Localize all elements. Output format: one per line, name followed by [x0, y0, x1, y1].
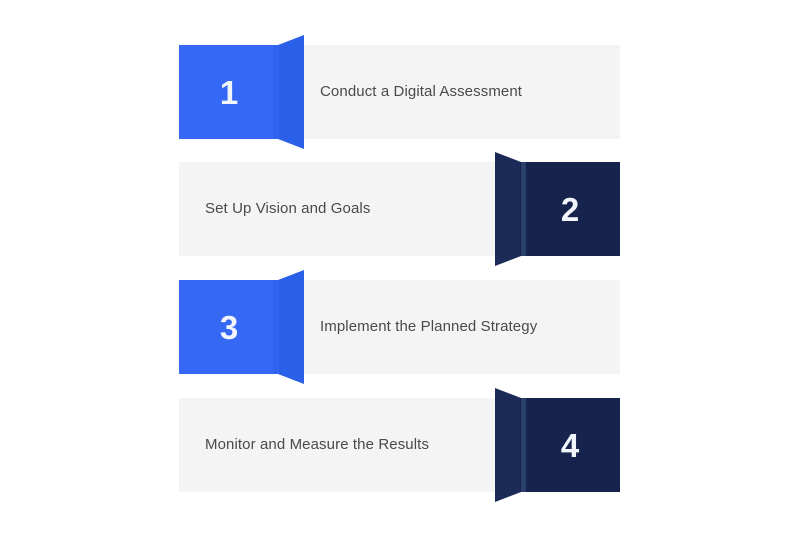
step-number-block: 2 — [495, 152, 620, 266]
step-row: Monitor and Measure the Results 4 — [179, 398, 620, 492]
step-block-flap — [278, 35, 304, 149]
step-number-block: 3 — [179, 270, 304, 384]
step-number-block: 4 — [495, 388, 620, 502]
step-block-flap — [495, 388, 521, 502]
step-number: 2 — [520, 162, 620, 256]
step-infographic: Conduct a Digital Assessment 1 Set Up Vi… — [0, 0, 800, 538]
step-row: Set Up Vision and Goals 2 — [179, 162, 620, 256]
step-number-block: 1 — [179, 35, 304, 149]
step-number: 3 — [179, 280, 279, 374]
step-number: 1 — [179, 45, 279, 139]
step-label: Monitor and Measure the Results — [205, 398, 485, 492]
step-block-flap — [278, 270, 304, 384]
step-row: Conduct a Digital Assessment 1 — [179, 45, 620, 139]
step-row: Implement the Planned Strategy 3 — [179, 280, 620, 374]
step-number: 4 — [520, 398, 620, 492]
step-block-flap — [495, 152, 521, 266]
step-label: Implement the Planned Strategy — [320, 280, 600, 374]
step-label: Conduct a Digital Assessment — [320, 45, 600, 139]
step-label: Set Up Vision and Goals — [205, 162, 485, 256]
